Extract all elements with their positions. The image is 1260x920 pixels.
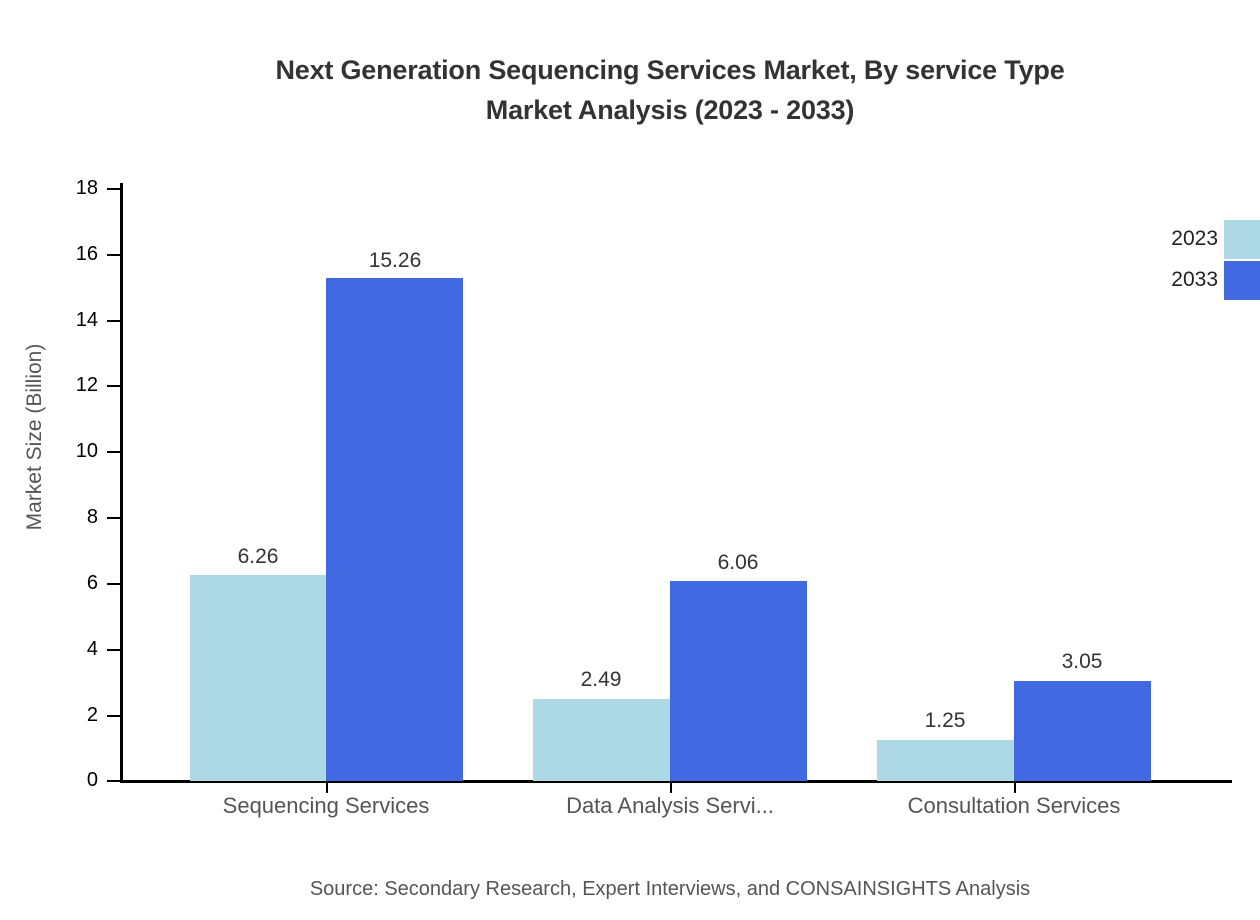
legend-label-2033[interactable]: 2033 xyxy=(1098,269,1218,290)
legend-label-2023[interactable]: 2023 xyxy=(1098,228,1218,249)
bar-value-2033-data-analysis-services: 6.06 xyxy=(628,551,848,575)
y-tick-label-10: 10 xyxy=(40,441,98,461)
y-tick-14 xyxy=(107,320,121,322)
y-tick-label-14: 14 xyxy=(40,310,98,330)
y-tick-0 xyxy=(107,780,121,782)
y-tick-label-18: 18 xyxy=(40,178,98,198)
bar-2033-consultation-services[interactable] xyxy=(1014,681,1151,781)
bar-2033-sequencing-services[interactable] xyxy=(326,278,463,781)
y-tick-label-12: 12 xyxy=(40,375,98,395)
y-tick-8 xyxy=(107,517,121,519)
y-tick-16 xyxy=(107,254,121,256)
y-tick-label-6: 6 xyxy=(40,573,98,593)
y-tick-4 xyxy=(107,649,121,651)
y-tick-label-0: 0 xyxy=(40,770,98,790)
y-tick-6 xyxy=(107,583,121,585)
chart-title-line-2: Market Analysis (2023 - 2033) xyxy=(0,90,1260,130)
y-tick-label-4: 4 xyxy=(40,639,98,659)
bar-value-2033-sequencing-services: 15.26 xyxy=(285,249,505,273)
source-note: Source: Secondary Research, Expert Inter… xyxy=(0,878,1260,901)
x-tick-sequencing-services xyxy=(326,781,328,793)
x-tick-data-analysis-services xyxy=(670,781,672,793)
bar-2023-data-analysis-services[interactable] xyxy=(533,699,670,781)
y-tick-label-8: 8 xyxy=(40,507,98,527)
y-tick-label-16: 16 xyxy=(40,244,98,264)
chart-title: Next Generation Sequencing Services Mark… xyxy=(0,50,1260,130)
legend-swatch-2033[interactable] xyxy=(1224,261,1260,300)
bar-value-2033-consultation-services: 3.05 xyxy=(972,650,1192,674)
bar-chart: Next Generation Sequencing Services Mark… xyxy=(0,0,1260,920)
x-axis-label-sequencing-services: Sequencing Services xyxy=(166,793,486,819)
bar-2023-consultation-services[interactable] xyxy=(877,740,1014,781)
x-tick-consultation-services xyxy=(1014,781,1016,793)
bar-2033-data-analysis-services[interactable] xyxy=(670,581,807,781)
y-tick-12 xyxy=(107,385,121,387)
y-tick-18 xyxy=(107,188,121,190)
y-tick-2 xyxy=(107,715,121,717)
bar-2023-sequencing-services[interactable] xyxy=(190,575,326,781)
y-tick-10 xyxy=(107,451,121,453)
chart-title-line-1: Next Generation Sequencing Services Mark… xyxy=(0,50,1260,90)
x-axis-label-consultation-services: Consultation Services xyxy=(854,793,1174,819)
y-axis-line xyxy=(120,183,123,783)
y-tick-label-2: 2 xyxy=(40,705,98,725)
x-axis-label-data-analysis-services: Data Analysis Servi... xyxy=(510,793,830,819)
legend-swatch-2023[interactable] xyxy=(1224,220,1260,259)
